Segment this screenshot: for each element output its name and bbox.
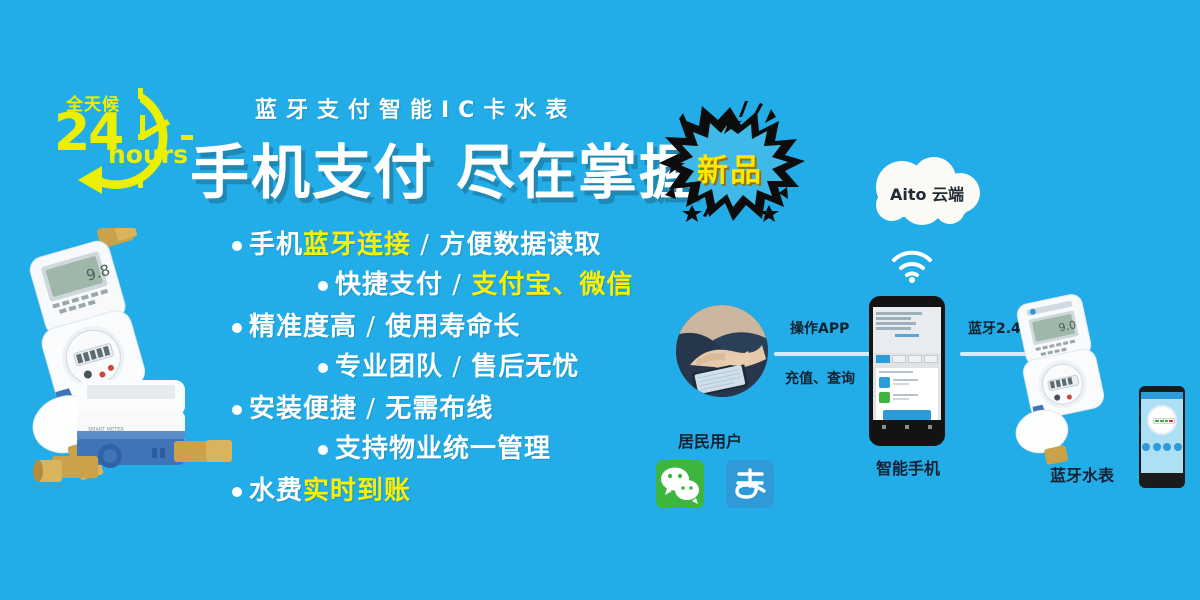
android-nav-bar[interactable] [873,420,941,433]
tab-active[interactable] [876,355,890,363]
payment-option-alipay[interactable] [879,377,935,388]
banner-headline: 手机支付尽在掌握 [190,125,700,210]
svg-text:SMART METER: SMART METER [88,427,124,433]
feature-suffix: 方便数据读取 [439,230,601,260]
node-label-bluetooth-meter: 蓝牙水表 [1050,462,1114,486]
feature-prefix: 水费 [249,476,303,506]
alipay-icon [879,377,890,388]
back-icon[interactable] [882,425,886,429]
feature-suffix: 使用寿命长 [385,312,520,342]
tab[interactable] [924,355,938,363]
feature-prefix: 安装便捷 [249,394,357,424]
product-photo-group: 9.8 [0,228,242,518]
wifi-icon [888,248,936,284]
phone-tab-bar[interactable] [873,353,941,365]
action-icon[interactable] [1142,443,1150,451]
wechat-pay-icon [879,392,890,403]
feature-suffix: 售后无忧 [471,352,579,382]
badge-hours-text: hours [108,140,188,169]
list-item: 手机蓝牙连接 / 方便数据读取 [232,232,702,258]
home-icon[interactable] [905,425,909,429]
list-item: 支持物业统一管理 [232,436,702,462]
feature-highlight: 蓝牙连接 [303,230,411,260]
new-product-label: 新品 [645,145,815,190]
payment-option-wechat[interactable] [879,392,935,403]
cloud-label: Aito 云端 [862,181,992,205]
feature-separator: / [443,270,471,300]
phone-link-row[interactable] [895,334,920,337]
promo-banner: 全天候 24 hours 蓝牙支付智能IC卡水表 手机支付尽在掌握 新品 手机蓝… [0,0,1200,600]
app-action-icons[interactable] [1141,443,1183,451]
tab[interactable] [892,355,906,363]
meter-digits [1153,418,1175,424]
list-item: 水费实时到账 [232,478,702,504]
list-item: 精准度高 / 使用寿命长 [232,314,702,340]
cloud-node: Aito 云端 [862,155,992,235]
all-weather-24h-badge: 全天候 24 hours [48,82,198,197]
info-line [876,312,922,315]
node-label-smart-phone: 智能手机 [876,455,940,479]
bullet-dot-icon [318,445,328,455]
smartphone-mockup [869,296,945,446]
android-nav-bar[interactable] [1141,473,1183,481]
info-line [876,327,911,330]
alipay-icon[interactable] [726,460,774,508]
meter-dial-widget [1147,405,1177,435]
feature-separator: / [411,230,439,260]
card-title-line [879,371,913,373]
recents-icon[interactable] [928,425,932,429]
bullet-dot-icon [318,281,328,291]
banner-subtitle: 蓝牙支付智能IC卡水表 [255,92,576,124]
action-icon[interactable] [1153,443,1161,451]
wechat-pay-icon[interactable] [656,460,704,508]
action-icon[interactable] [1174,443,1182,451]
tab[interactable] [908,355,922,363]
app-header-bar [1141,392,1183,399]
headline-part-1: 手机支付 [190,138,434,207]
phone-info-panel [873,307,941,353]
feature-prefix: 手机 [249,230,303,260]
link-label-app-operation-bottom: 充值、查询 [785,368,855,388]
resident-user-photo [676,305,768,397]
bluetooth-water-meter-photo: 9.0 [1000,292,1130,467]
payment-icon-group [656,460,774,508]
connector-line-app [774,352,870,356]
node-label-resident-user: 居民用户 [678,428,742,452]
meter-app-screen [1141,392,1183,481]
feature-prefix: 专业团队 [335,352,443,382]
feature-separator: / [357,312,385,342]
action-icon[interactable] [1163,443,1171,451]
feature-prefix: 精准度高 [249,312,357,342]
link-label-app-operation-top: 操作APP [790,318,849,338]
feature-separator: / [357,394,385,424]
meter-app-phone-mockup [1139,386,1185,488]
feature-list: 手机蓝牙连接 / 方便数据读取 快捷支付 / 支付宝、微信 精准度高 / 使用寿… [232,232,702,518]
feature-prefix: 快捷支付 [335,270,443,300]
feature-prefix: 支持物业统一管理 [335,434,551,464]
feature-suffix: 支付宝、微信 [471,270,633,300]
list-item: 安装便捷 / 无需布线 [232,396,702,422]
bullet-dot-icon [318,363,328,373]
phone-screen [873,307,941,433]
info-line [876,317,911,320]
new-product-badge: 新品 [645,95,815,225]
feature-suffix: 无需布线 [385,394,493,424]
list-item: 快捷支付 / 支付宝、微信 [232,272,702,298]
feature-highlight: 实时到账 [303,476,411,506]
feature-separator: / [443,352,471,382]
info-line [876,322,916,325]
list-item: 专业团队 / 售后无忧 [232,354,702,380]
